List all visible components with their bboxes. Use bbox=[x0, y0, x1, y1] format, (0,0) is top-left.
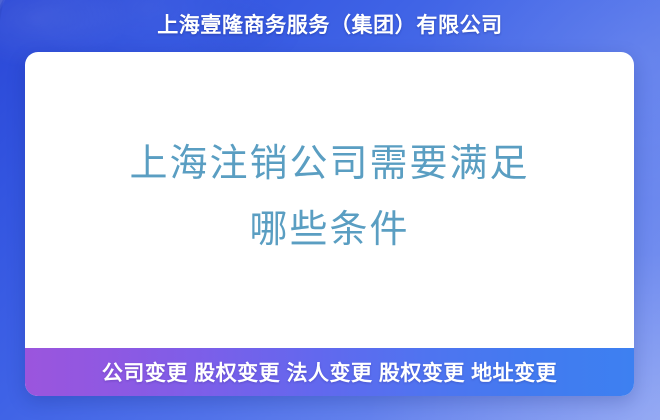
promotional-poster: 上海壹隆商务服务（集团）有限公司 上海注销公司需要满足 哪些条件 公司变更 股权… bbox=[0, 0, 660, 420]
headline-area: 上海注销公司需要满足 哪些条件 bbox=[25, 52, 634, 348]
company-name-header: 上海壹隆商务服务（集团）有限公司 bbox=[0, 13, 660, 39]
headline-line-2: 哪些条件 bbox=[249, 197, 409, 263]
services-bar: 公司变更 股权变更 法人变更 股权变更 地址变更 bbox=[25, 348, 634, 396]
content-card: 上海注销公司需要满足 哪些条件 公司变更 股权变更 法人变更 股权变更 地址变更 bbox=[25, 52, 634, 396]
services-list-text: 公司变更 股权变更 法人变更 股权变更 地址变更 bbox=[102, 357, 557, 387]
headline-line-1: 上海注销公司需要满足 bbox=[129, 131, 529, 197]
